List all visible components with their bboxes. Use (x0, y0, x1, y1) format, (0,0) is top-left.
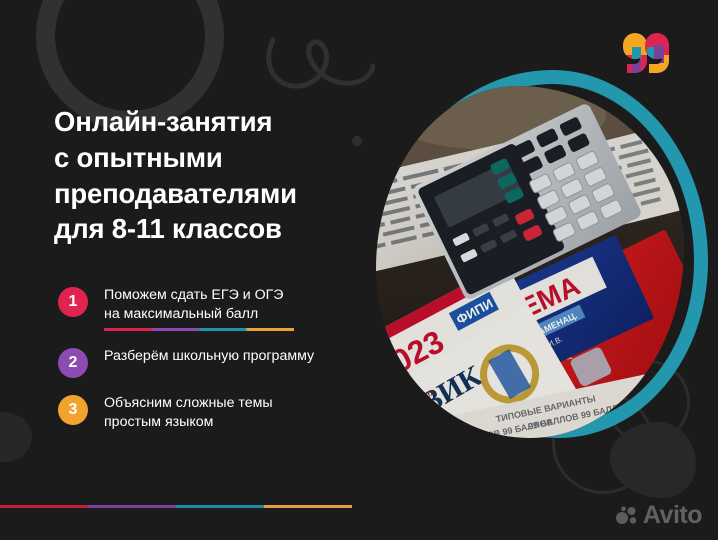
list-item: 2 Разберём школьную программу (58, 347, 378, 378)
list-item: 1 Поможем сдать ЕГЭ и ОГЭ на максимальны… (58, 286, 378, 331)
feature-badge-2: 2 (58, 348, 88, 378)
feature-text-3: Объясним сложные темы простым языком (104, 394, 273, 433)
decorative-squiggle-icon (265, 34, 375, 96)
bottom-color-rule (0, 505, 352, 508)
headline-line-4: для 8-11 классов (54, 211, 364, 247)
feature-1-line-2: на максимальный балл (104, 305, 294, 324)
svg-text:ФИЗИКА: ФИЗИКА (393, 428, 433, 438)
page-title: Онлайн-занятия с опытными преподавателям… (54, 104, 364, 247)
feature-3-line-2: простым языком (104, 413, 273, 432)
feature-list: 1 Поможем сдать ЕГЭ и ОГЭ на максимальны… (58, 286, 378, 433)
feature-3-line-1: Объясним сложные темы (104, 394, 273, 413)
avito-dots-icon (616, 505, 638, 527)
photo-composition: 36 МАТЕМА ТИПОВЫЕ ЭКЗАМЕНАЦ. ПОД РЕДАКЦИ… (372, 62, 702, 482)
feature-1-line-1: Поможем сдать ЕГЭ и ОГЭ (104, 286, 294, 305)
list-item: 3 Объясним сложные темы простым языком (58, 394, 378, 433)
headline-line-1: Онлайн-занятия (54, 104, 364, 140)
feature-text-2: Разберём школьную программу (104, 347, 314, 366)
feature-badge-3: 3 (58, 395, 88, 425)
promo-banner: Онлайн-занятия с опытными преподавателям… (0, 0, 718, 540)
decorative-blob-bottom-left (0, 412, 32, 462)
feature-2-line-1: Разберём школьную программу (104, 347, 314, 366)
feature-badge-1: 1 (58, 287, 88, 317)
feature-underline (104, 328, 294, 331)
feature-text-1: Поможем сдать ЕГЭ и ОГЭ на максимальный … (104, 286, 294, 331)
avito-watermark: Avito (616, 503, 702, 528)
headline-line-2: с опытными (54, 140, 364, 176)
headline-line-3: преподавателями (54, 176, 364, 212)
avito-watermark-text: Avito (643, 503, 702, 528)
